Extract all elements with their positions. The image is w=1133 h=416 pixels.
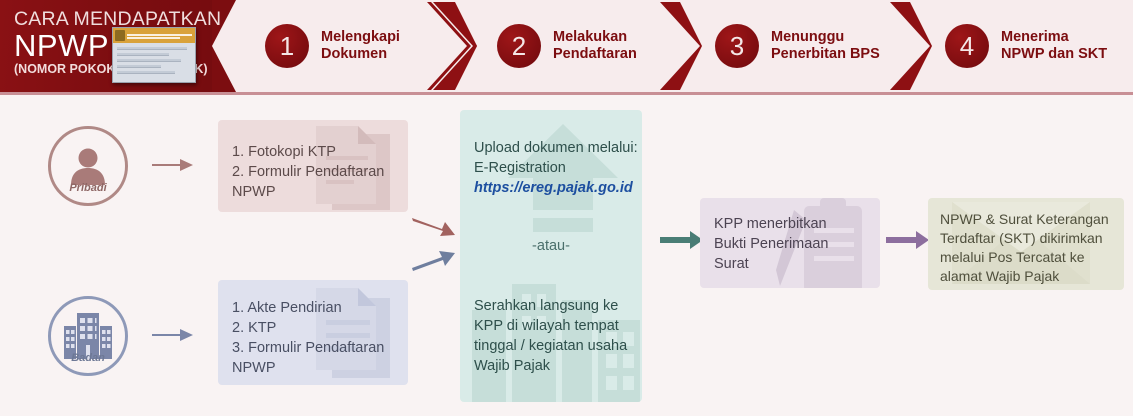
header-title-npwp: NPWP — [14, 28, 109, 64]
step-label-2: Melakukan Pendaftaran — [553, 29, 637, 63]
npwp-card-icon — [112, 27, 196, 83]
header-step-4[interactable]: 4 Menerima NPWP dan SKT — [945, 0, 1107, 92]
arrow-kpp-to-delivery — [886, 230, 930, 255]
registration-box: Upload dokumen melalui: E-Registration h… — [460, 110, 642, 402]
arrow-entity-to-docs — [152, 326, 194, 349]
personal-documents-box: 1. Fotokopi KTP 2. Formulir Pendaftaran … — [218, 120, 408, 212]
chevron-separator-1 — [425, 0, 477, 92]
infographic-root: CARA MENDAPATKAN NPWP (NOMOR POKOK WAJIB… — [0, 0, 1133, 416]
ereg-url-link[interactable]: https://ereg.pajak.go.id — [460, 178, 642, 198]
personal-documents-text: 1. Fotokopi KTP 2. Formulir Pendaftaran … — [218, 120, 408, 202]
separator-atau: -atau- — [460, 198, 642, 256]
role-label-entity: Badan — [51, 352, 125, 364]
npwp-card-body-lines — [113, 43, 195, 74]
arrow-registration-to-kpp — [660, 230, 704, 255]
arrow-entity-to-registration — [412, 248, 456, 277]
person-icon-circle: Pribadi — [48, 126, 128, 206]
chevron-separator-2 — [650, 0, 702, 92]
role-label-personal: Pribadi — [51, 182, 125, 194]
step-number-1: 1 — [265, 24, 309, 68]
header-step-1[interactable]: 1 Melengkapi Dokumen — [265, 0, 400, 92]
header-step-3[interactable]: 3 Menunggu Penerbitan BPS — [715, 0, 880, 92]
delivery-text: NPWP & Surat Keterangan Terdaftar (SKT) … — [928, 198, 1124, 286]
header-step-2[interactable]: 2 Melakukan Pendaftaran — [497, 0, 637, 92]
arrow-personal-to-docs — [152, 156, 194, 179]
entity-documents-text: 1. Akte Pendirian 2. KTP 3. Formulir Pen… — [218, 280, 408, 378]
flow-diagram: Pribadi 1. Fotokopi KTP 2. Formulir Pend… — [0, 98, 1133, 416]
step-number-3: 3 — [715, 24, 759, 68]
npwp-card-header — [113, 28, 195, 43]
npwp-card-header-lines — [127, 33, 195, 39]
delivery-box: NPWP & Surat Keterangan Terdaftar (SKT) … — [928, 198, 1124, 290]
kpp-text: KPP menerbitkan Bukti Penerimaan Surat — [700, 198, 880, 274]
step-label-3: Menunggu Penerbitan BPS — [771, 29, 880, 63]
kpp-box: KPP menerbitkan Bukti Penerimaan Surat — [700, 198, 880, 288]
arrow-personal-to-registration — [412, 216, 456, 245]
ministry-emblem-icon — [115, 30, 125, 41]
entity-documents-box: 1. Akte Pendirian 2. KTP 3. Formulir Pen… — [218, 280, 408, 385]
registration-upload-text: Upload dokumen melalui: E-Registration — [460, 110, 642, 178]
step-number-4: 4 — [945, 24, 989, 68]
chevron-separator-3 — [880, 0, 932, 92]
step-label-4: Menerima NPWP dan SKT — [1001, 29, 1107, 63]
step-label-1: Melengkapi Dokumen — [321, 29, 400, 63]
building-icon-circle: Badan — [48, 296, 128, 376]
registration-offline-text: Serahkan langsung ke KPP di wilayah temp… — [460, 256, 642, 376]
header-band: CARA MENDAPATKAN NPWP (NOMOR POKOK WAJIB… — [0, 0, 1133, 95]
step-number-2: 2 — [497, 24, 541, 68]
